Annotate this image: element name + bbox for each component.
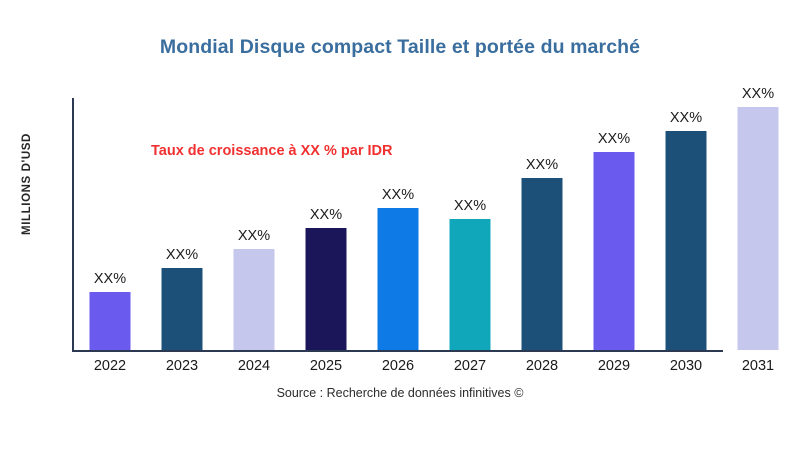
- bar-slot: XX%: [578, 98, 650, 350]
- x-tick-2030: 2030: [650, 358, 722, 374]
- bar-slot: XX%: [650, 98, 722, 350]
- bar-2022[interactable]: XX%: [90, 292, 131, 350]
- bar-2025[interactable]: XX%: [306, 228, 347, 350]
- bar-slot: XX%: [362, 98, 434, 350]
- bar-2026[interactable]: XX%: [378, 208, 419, 350]
- bar-slot: XX%: [722, 98, 794, 350]
- bar-2023[interactable]: XX%: [162, 268, 203, 350]
- bar-value-label: XX%: [526, 157, 558, 173]
- bar-slot: XX%: [290, 98, 362, 350]
- bar-value-label: XX%: [238, 228, 270, 244]
- x-tick-2031: 2031: [722, 358, 794, 374]
- x-tick-2028: 2028: [506, 358, 578, 374]
- bar-2030[interactable]: XX%: [666, 131, 707, 350]
- bar-2029[interactable]: XX%: [594, 152, 635, 350]
- chart-container: Mondial Disque compact Taille et portée …: [0, 0, 800, 450]
- bar-2028[interactable]: XX%: [522, 178, 563, 350]
- x-tick-2025: 2025: [290, 358, 362, 374]
- x-tick-2024: 2024: [218, 358, 290, 374]
- bar-value-label: XX%: [598, 131, 630, 147]
- bar-value-label: XX%: [166, 247, 198, 263]
- plot-area: XX%XX%XX%XX%XX%XX%XX%XX%XX%XX%: [72, 98, 800, 350]
- x-tick-2027: 2027: [434, 358, 506, 374]
- bar-value-label: XX%: [454, 198, 486, 214]
- chart-title: Mondial Disque compact Taille et portée …: [0, 36, 800, 59]
- bar-value-label: XX%: [94, 271, 126, 287]
- x-tick-2029: 2029: [578, 358, 650, 374]
- bar-2031[interactable]: XX%: [738, 107, 779, 350]
- bar-slot: XX%: [218, 98, 290, 350]
- bar-2024[interactable]: XX%: [234, 249, 275, 350]
- bar-value-label: XX%: [310, 207, 342, 223]
- bar-slot: XX%: [506, 98, 578, 350]
- x-tick-2026: 2026: [362, 358, 434, 374]
- bar-slot: XX%: [74, 98, 146, 350]
- x-tick-2022: 2022: [74, 358, 146, 374]
- source-note: Source : Recherche de données infinitive…: [0, 386, 800, 400]
- bar-value-label: XX%: [670, 110, 702, 126]
- y-axis-label: MILLIONS D'USD: [21, 94, 33, 274]
- bar-slot: XX%: [434, 98, 506, 350]
- x-axis-line: [72, 350, 723, 352]
- bar-slot: XX%: [146, 98, 218, 350]
- bar-value-label: XX%: [382, 187, 414, 203]
- bar-value-label: XX%: [742, 86, 774, 102]
- x-tick-2023: 2023: [146, 358, 218, 374]
- bar-2027[interactable]: XX%: [450, 219, 491, 350]
